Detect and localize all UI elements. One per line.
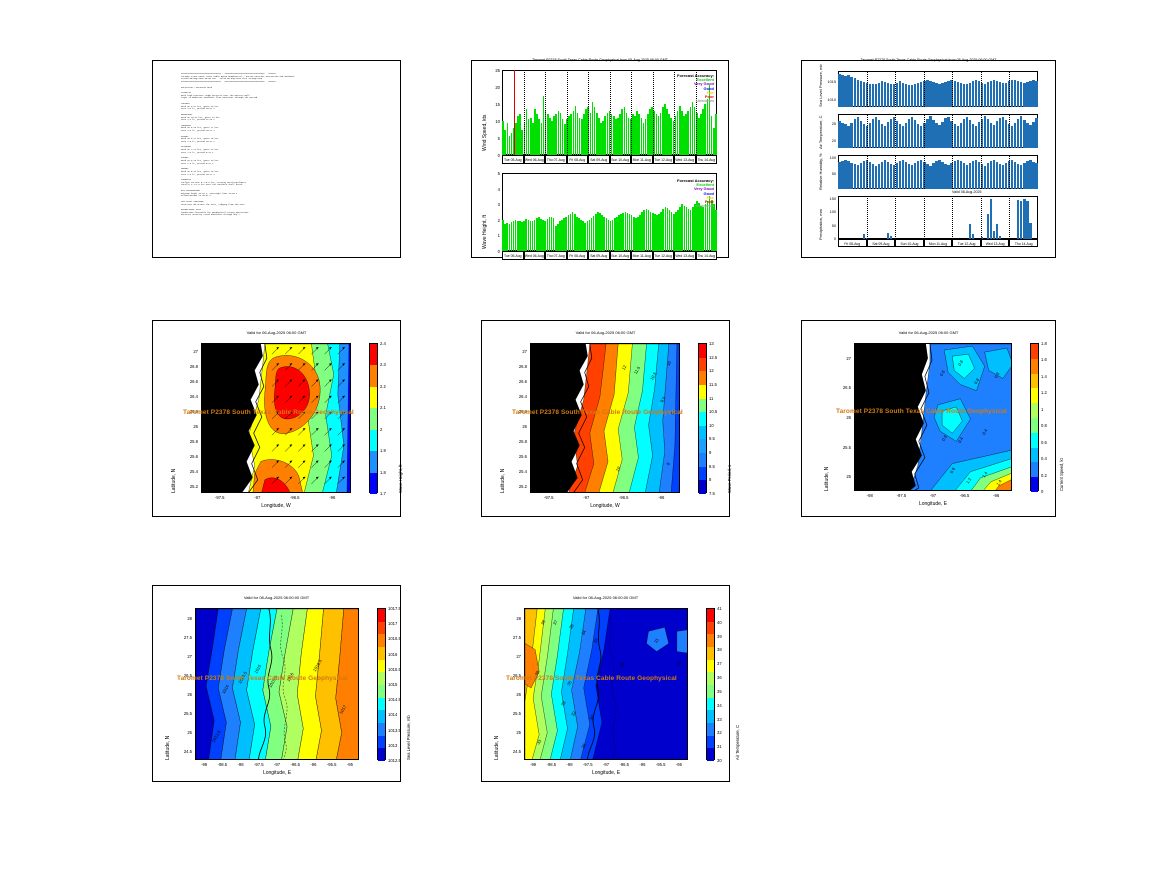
- bar-air-temperature: [920, 126, 922, 148]
- bar-sea-level-pressure: [920, 82, 922, 107]
- bar-relative-humidity: [838, 162, 840, 189]
- day-cell: Fri 08-Aug: [567, 251, 589, 260]
- day-cell: Wed 13-Aug: [674, 155, 696, 164]
- bar-relative-humidity: [978, 162, 980, 189]
- colorbar-tick: 1.9: [380, 448, 386, 453]
- colorbar-tick: 8.5: [709, 464, 715, 469]
- colorbar-tick: 2.2: [380, 384, 386, 389]
- colorbar-tick: 1017: [388, 621, 397, 626]
- bar-relative-humidity: [1002, 165, 1004, 189]
- day-cell: Thu 07-Aug: [545, 251, 567, 260]
- bar-sea-level-pressure: [1029, 81, 1031, 107]
- bar-air-temperature: [1032, 122, 1034, 148]
- colorbar-tick: 1014.5: [388, 697, 401, 702]
- xtick: -96.5: [615, 762, 633, 767]
- colorbar-segment: [1031, 477, 1038, 492]
- colorbar-segment: [378, 672, 385, 685]
- bar-relative-humidity: [902, 160, 904, 189]
- map-plot-area-map-sea-level-pressure: 10141014.510151015.510161016.510171013.5: [195, 608, 359, 760]
- bar-air-temperature: [960, 123, 962, 149]
- bar-air-temperature: [841, 123, 843, 149]
- bar-air-temperature: [1017, 119, 1019, 148]
- ytick: 26.4: [177, 394, 198, 399]
- bar-sea-level-pressure: [969, 83, 971, 107]
- bar-relative-humidity: [926, 164, 928, 189]
- bar-relative-humidity: [850, 163, 852, 189]
- xtick: -97: [248, 495, 266, 500]
- bar-air-temperature: [1026, 123, 1028, 148]
- xtick: -98: [232, 762, 250, 767]
- bar-sea-level-pressure: [938, 84, 940, 107]
- xtick: -96: [323, 495, 341, 500]
- bar-relative-humidity: [1020, 165, 1022, 189]
- bar-relative-humidity: [905, 162, 907, 189]
- day-separator: [924, 196, 925, 239]
- xtick: -97: [597, 762, 615, 767]
- bar-sea-level-pressure: [996, 81, 998, 107]
- day-separator: [867, 196, 868, 239]
- ytick-wave-height: 1: [484, 233, 500, 238]
- map-xlabel-map-wave-period: Longitude, W: [530, 503, 680, 509]
- bar-sea-level-pressure: [987, 82, 989, 107]
- current-time-line: [514, 70, 515, 155]
- colorbar-segment: [707, 698, 714, 711]
- day-separator: [952, 114, 953, 148]
- panel-map-sea-level-pressure: Valid for 08-Aug-2025 06:00:00 GMT101410…: [152, 585, 401, 782]
- ytick-relative-humidity: 100: [820, 156, 836, 160]
- day-separator: [895, 196, 896, 239]
- colorbar-tick: 37: [717, 661, 722, 666]
- ytick: 25.6: [177, 454, 198, 459]
- ytick: 24.5: [500, 749, 521, 754]
- map-title-map-wave-height: Valid for 06-Aug-2025 06:00 GMT: [153, 330, 400, 335]
- bar-relative-humidity: [1026, 161, 1028, 189]
- xtick: -98.5: [213, 762, 231, 767]
- bar-sea-level-pressure: [869, 84, 871, 107]
- day-separator: [867, 114, 868, 148]
- bar-relative-humidity: [993, 160, 995, 189]
- day-cell: Fri 08-Aug: [567, 155, 589, 164]
- colorbar-segment: [1031, 418, 1038, 433]
- colorbar-segment: [1031, 403, 1038, 418]
- bar-air-temperature: [969, 120, 971, 148]
- colorbar-segment: [370, 408, 377, 429]
- day-separator: [981, 71, 982, 107]
- day-separator: [610, 70, 611, 155]
- bar-sea-level-pressure: [905, 84, 907, 107]
- colorbar-segment: [699, 426, 706, 440]
- day-separator: [895, 114, 896, 148]
- day-cell: Tue 05-Aug: [502, 155, 524, 164]
- project-watermark: Taromet P2378 South Texas Cable Route Ge…: [506, 675, 677, 682]
- day-cell: Mon 11-Aug: [631, 251, 653, 260]
- bar-air-temperature: [926, 119, 928, 148]
- bar-air-temperature: [984, 116, 986, 148]
- xtick: -96: [652, 495, 670, 500]
- ytick-wind-speed: 25: [484, 68, 500, 73]
- bar-sea-level-pressure: [993, 80, 995, 107]
- bar-relative-humidity: [908, 164, 910, 189]
- colorbar-tick: 1: [1041, 407, 1043, 412]
- bar-relative-humidity: [966, 165, 968, 189]
- colorbar-segment: [378, 622, 385, 635]
- colorbar-tick: 40: [717, 620, 722, 625]
- colorbar-segment: [699, 358, 706, 372]
- bar-air-temperature: [938, 125, 940, 148]
- ytick: 26.8: [177, 364, 198, 369]
- bar-air-temperature: [875, 117, 877, 148]
- ytick-precipitation: 100: [820, 210, 836, 214]
- day-cell: Tue 12-Aug: [653, 251, 675, 260]
- day-cell: Sun 10-Aug: [895, 239, 924, 247]
- colorbar-segment: [1031, 344, 1038, 359]
- colorbar-segment: [1031, 433, 1038, 448]
- bar-sea-level-pressure: [844, 76, 846, 107]
- bar-relative-humidity: [911, 165, 913, 189]
- bar-relative-humidity: [984, 166, 986, 189]
- ytick: 25.4: [506, 469, 527, 474]
- colorbar-tick: 10.5: [709, 409, 717, 414]
- bar-sea-level-pressure: [899, 81, 901, 107]
- colorbar-segment: [707, 647, 714, 660]
- xtick: -97.5: [211, 495, 229, 500]
- bar-sea-level-pressure: [957, 82, 959, 107]
- panel-map-wave-period: Valid for 06-Aug-2025 06:00 GMT1211.510.…: [481, 320, 730, 517]
- bar-sea-level-pressure: [860, 81, 862, 107]
- colorbar-segment: [370, 473, 377, 494]
- bar-air-temperature: [896, 121, 898, 148]
- bar-relative-humidity: [872, 164, 874, 189]
- colorbar-tick: 36: [717, 675, 722, 680]
- colorbar-tick: 8: [709, 477, 711, 482]
- map-title-map-current-speed: Valid for 06-Aug-2025 06:00 GMT: [802, 330, 1055, 335]
- ytick-air-temperature: 25: [820, 122, 836, 126]
- bar-air-temperature: [863, 124, 865, 148]
- map-xlabel-map-wave-height: Longitude, W: [201, 503, 351, 509]
- bar-air-temperature: [972, 124, 974, 148]
- panel-map-current-speed: Valid for 06-Aug-2025 06:00 GMT0.60.60.8…: [801, 320, 1056, 517]
- bar-sea-level-pressure: [841, 75, 843, 107]
- colorbar-label-map-wave-height: Wave Height, ft: [398, 465, 403, 493]
- colorbar-tick: 1.8: [1041, 341, 1047, 346]
- bar-air-temperature: [957, 126, 959, 148]
- bar-air-temperature: [996, 121, 998, 148]
- day-separator: [952, 71, 953, 107]
- day-separator: [545, 70, 546, 155]
- ytick-wind-speed: 10: [484, 119, 500, 124]
- day-separator: [981, 196, 982, 239]
- ytick-wind-speed: 20: [484, 85, 500, 90]
- colorbar-segment: [1031, 374, 1038, 389]
- day-separator: [1009, 114, 1010, 148]
- project-watermark: Taromet P2378 South Texas Cable Route Ge…: [183, 409, 354, 416]
- bar-sea-level-pressure: [999, 82, 1001, 107]
- colorbar-label-map-air-temperature: Air Temperature, C: [735, 725, 740, 760]
- map-xlabel-map-current-speed: Longitude, E: [854, 501, 1012, 507]
- colorbar-tick: 1.4: [1041, 374, 1047, 379]
- bar-relative-humidity: [972, 161, 974, 189]
- colorbar-tick: 9.5: [709, 436, 715, 441]
- bar-relative-humidity: [899, 161, 901, 189]
- ytick: 25.4: [177, 469, 198, 474]
- xtick: -98: [861, 493, 879, 498]
- ytick: 27.5: [500, 635, 521, 640]
- colorbar-label-map-wave-period: Wave Period, s: [727, 465, 732, 493]
- bar-relative-humidity: [1023, 163, 1025, 189]
- map-title-map-air-temperature: Valid for 08-Aug-2025 06:00:00 GMT: [482, 595, 729, 600]
- colorbar-tick: 7.5: [709, 491, 715, 496]
- bar-sea-level-pressure: [972, 81, 974, 107]
- day-cell: Wed 13-Aug: [981, 239, 1010, 247]
- bar-air-temperature: [872, 119, 874, 148]
- bar-sea-level-pressure: [935, 83, 937, 107]
- map-title-map-sea-level-pressure: Valid for 08-Aug-2025 06:00:00 GMT: [153, 595, 400, 600]
- ytick: 26.6: [177, 379, 198, 384]
- bar-air-temperature: [884, 126, 886, 148]
- day-cell: Sun 10-Aug: [610, 251, 632, 260]
- colorbar-segment: [707, 736, 714, 749]
- bar-air-temperature: [908, 119, 910, 148]
- ytick-wind-speed: 0: [484, 153, 500, 158]
- bar-relative-humidity: [890, 164, 892, 189]
- bar-precipitation: [1026, 201, 1028, 239]
- bar-relative-humidity: [1029, 160, 1031, 189]
- ytick: 26: [177, 424, 198, 429]
- day-cell: Sat 09-Aug: [588, 155, 610, 164]
- xtick: -97.5: [250, 762, 268, 767]
- panel-wind-wave-title: Taromet P2378 South Texas Cable Route Ge…: [472, 58, 728, 62]
- colorbar-segment: [378, 660, 385, 673]
- colorbar-tick: 0.8: [1041, 423, 1047, 428]
- ytick-wave-height: 3: [484, 202, 500, 207]
- colorbar-segment: [378, 698, 385, 711]
- bar-precipitation: [996, 224, 998, 239]
- colorbar-segment: [378, 723, 385, 736]
- ytick: 25.6: [506, 454, 527, 459]
- day-separator: [895, 155, 896, 189]
- colorbar-map-current-speed: [1030, 343, 1039, 491]
- bar-sea-level-pressure: [875, 84, 877, 107]
- panel-forecast-text: ================================ =======…: [152, 60, 401, 258]
- map-plot-area-map-wave-period: 1211.510.5109.59108: [530, 343, 680, 493]
- bar-relative-humidity: [1035, 163, 1037, 189]
- bar-relative-humidity: [941, 162, 943, 189]
- ytick-wave-height: 2: [484, 218, 500, 223]
- colorbar-segment: [707, 710, 714, 723]
- ytick: 25.5: [830, 445, 851, 450]
- bar-relative-humidity: [996, 162, 998, 189]
- bar-sea-level-pressure: [984, 84, 986, 107]
- map-plot-area-map-current-speed: 0.60.60.80.80.40.60.40.61.41.21.4: [854, 343, 1012, 491]
- bar-air-temperature: [932, 120, 934, 148]
- colorbar-segment: [378, 748, 385, 761]
- ytick: 25.5: [171, 711, 192, 716]
- ytick: 26.6: [506, 379, 527, 384]
- bar-air-temperature: [914, 120, 916, 148]
- colorbar-segment: [1031, 448, 1038, 463]
- bar-relative-humidity: [957, 160, 959, 189]
- colorbar-tick: 2: [380, 427, 382, 432]
- bar-relative-humidity: [1011, 160, 1013, 189]
- colorbar-segment: [707, 748, 714, 761]
- ytick: 26.8: [506, 364, 527, 369]
- bar-sea-level-pressure: [838, 74, 840, 107]
- xtick: -96.5: [615, 495, 633, 500]
- xtick: -95.5: [323, 762, 341, 767]
- colorbar-tick: 13: [709, 341, 714, 346]
- ytick-precipitation: 0: [820, 237, 836, 241]
- day-separator: [924, 155, 925, 189]
- colorbar-tick: 1015.5: [388, 667, 401, 672]
- bar-relative-humidity: [869, 162, 871, 189]
- bar-sea-level-pressure: [890, 84, 892, 107]
- day-separator: [952, 155, 953, 189]
- bar-precipitation: [969, 224, 971, 239]
- ytick: 27.5: [171, 635, 192, 640]
- bar-wave-height: [715, 210, 717, 251]
- bar-air-temperature: [944, 118, 946, 148]
- colorbar-tick: 1013.5: [388, 728, 401, 733]
- ytick: 26: [830, 415, 851, 420]
- bar-sea-level-pressure: [1020, 82, 1022, 107]
- project-watermark: Taromet P2378 South Texas Cable Route Ge…: [836, 408, 1007, 415]
- bar-relative-humidity: [841, 161, 843, 189]
- colorbar-segment: [699, 453, 706, 467]
- bar-sea-level-pressure: [887, 83, 889, 107]
- bar-air-temperature: [857, 117, 859, 148]
- bar-sea-level-pressure: [1032, 80, 1034, 107]
- bar-sea-level-pressure: [990, 81, 992, 107]
- xtick: -96.5: [286, 495, 304, 500]
- bar-air-temperature: [987, 119, 989, 148]
- map-ylabel-map-sea-level-pressure: Latitude, N: [165, 736, 171, 760]
- bar-sea-level-pressure: [917, 83, 919, 107]
- bar-sea-level-pressure: [966, 84, 968, 107]
- bar-air-temperature: [860, 121, 862, 148]
- colorbar-tick: 0.6: [1041, 440, 1047, 445]
- bar-wind-speed: [715, 114, 717, 155]
- xtick: -96.5: [956, 493, 974, 498]
- colorbar-segment: [699, 344, 706, 358]
- ytick: 25: [500, 730, 521, 735]
- ytick: 27: [506, 349, 527, 354]
- colorbar-tick: 0.2: [1041, 473, 1047, 478]
- bar-air-temperature: [847, 126, 849, 148]
- bar-sea-level-pressure: [878, 83, 880, 107]
- ytick: 28: [500, 616, 521, 621]
- bar-air-temperature: [869, 123, 871, 149]
- day-cell: Sat 09-Aug: [588, 251, 610, 260]
- bar-sea-level-pressure: [944, 82, 946, 107]
- bar-air-temperature: [993, 125, 995, 148]
- bar-relative-humidity: [863, 161, 865, 189]
- day-separator: [567, 70, 568, 155]
- bar-air-temperature: [890, 119, 892, 148]
- forecast-accuracy-legend-2: Forecast Accuracy:ExcellentVery GoodGood…: [622, 179, 714, 208]
- day-separator: [524, 70, 525, 155]
- bar-sea-level-pressure: [954, 81, 956, 107]
- precip-axes: [838, 196, 1038, 239]
- bar-air-temperature: [947, 117, 949, 148]
- day-cell: Thu 14-Aug: [696, 155, 718, 164]
- colorbar-segment: [707, 723, 714, 736]
- bar-air-temperature: [1014, 123, 1016, 149]
- bar-sea-level-pressure: [1014, 80, 1016, 107]
- colorbar-segment: [707, 634, 714, 647]
- bar-air-temperature: [1005, 120, 1007, 148]
- colorbar-segment: [378, 647, 385, 660]
- colorbar-segment: [707, 660, 714, 673]
- colorbar-tick: 1.8: [380, 470, 386, 475]
- xtick: -99: [195, 762, 213, 767]
- day-separator: [924, 114, 925, 148]
- bar-sea-level-pressure: [884, 82, 886, 107]
- bar-air-temperature: [878, 120, 880, 148]
- colorbar-tick: 2.4: [380, 341, 386, 346]
- map-title-map-wave-period: Valid for 06-Aug-2025 06:00 GMT: [482, 330, 729, 335]
- bar-air-temperature: [941, 122, 943, 148]
- ytick: 26: [506, 424, 527, 429]
- colorbar-segment: [699, 385, 706, 399]
- bar-air-temperature: [966, 117, 968, 148]
- bar-air-temperature: [838, 121, 840, 148]
- bar-air-temperature: [999, 118, 1001, 148]
- colorbar-tick: 10: [709, 423, 714, 428]
- bar-sea-level-pressure: [1002, 83, 1004, 107]
- map-ylabel-map-wave-period: Latitude, N: [500, 469, 506, 493]
- ytick-relative-humidity: 50: [820, 172, 836, 176]
- bar-sea-level-pressure: [847, 75, 849, 107]
- colorbar-segment: [699, 399, 706, 413]
- colorbar-tick: 1014: [388, 712, 397, 717]
- xtick: -98: [561, 762, 579, 767]
- colorbar-tick: 2.3: [380, 362, 386, 367]
- bar-relative-humidity: [860, 163, 862, 189]
- bar-sea-level-pressure: [1005, 83, 1007, 107]
- bar-air-temperature: [978, 122, 980, 148]
- bar-relative-humidity: [857, 165, 859, 189]
- bar-relative-humidity: [917, 161, 919, 189]
- day-cell: Tue 12-Aug: [952, 239, 981, 247]
- panel-met-title: Taromet P2378 South Texas Cable Route Ge…: [802, 58, 1055, 62]
- colorbar-segment: [370, 365, 377, 386]
- panel-wind-wave-timeseries: Taromet P2378 South Texas Cable Route Ge…: [471, 60, 729, 258]
- xtick: -96: [633, 762, 651, 767]
- bar-relative-humidity: [1014, 162, 1016, 189]
- colorbar-tick: 31: [717, 744, 722, 749]
- bar-air-temperature: [929, 116, 931, 148]
- bar-air-temperature: [899, 124, 901, 148]
- day-separator: [981, 155, 982, 189]
- bar-relative-humidity: [887, 162, 889, 189]
- ytick-wind-speed: 5: [484, 136, 500, 141]
- colorbar-tick: 39: [717, 634, 722, 639]
- ytick-wave-height: 0: [484, 249, 500, 254]
- bar-air-temperature: [963, 119, 965, 148]
- bar-sea-level-pressure: [908, 85, 910, 107]
- colorbar-tick: 1015: [388, 682, 397, 687]
- bar-air-temperature: [990, 123, 992, 148]
- panel-map-wave-height: Valid for 06-Aug-2025 06:00 GMT-97.5-97-…: [152, 320, 401, 517]
- colorbar-map-wave-height: [369, 343, 378, 493]
- ytick: 27: [171, 654, 192, 659]
- colorbar-tick: 9: [709, 450, 711, 455]
- colorbar-segment: [1031, 359, 1038, 374]
- colorbar-segment: [370, 387, 377, 408]
- day-separator: [924, 71, 925, 107]
- day-separator: [1009, 155, 1010, 189]
- bar-air-temperature: [1035, 118, 1037, 148]
